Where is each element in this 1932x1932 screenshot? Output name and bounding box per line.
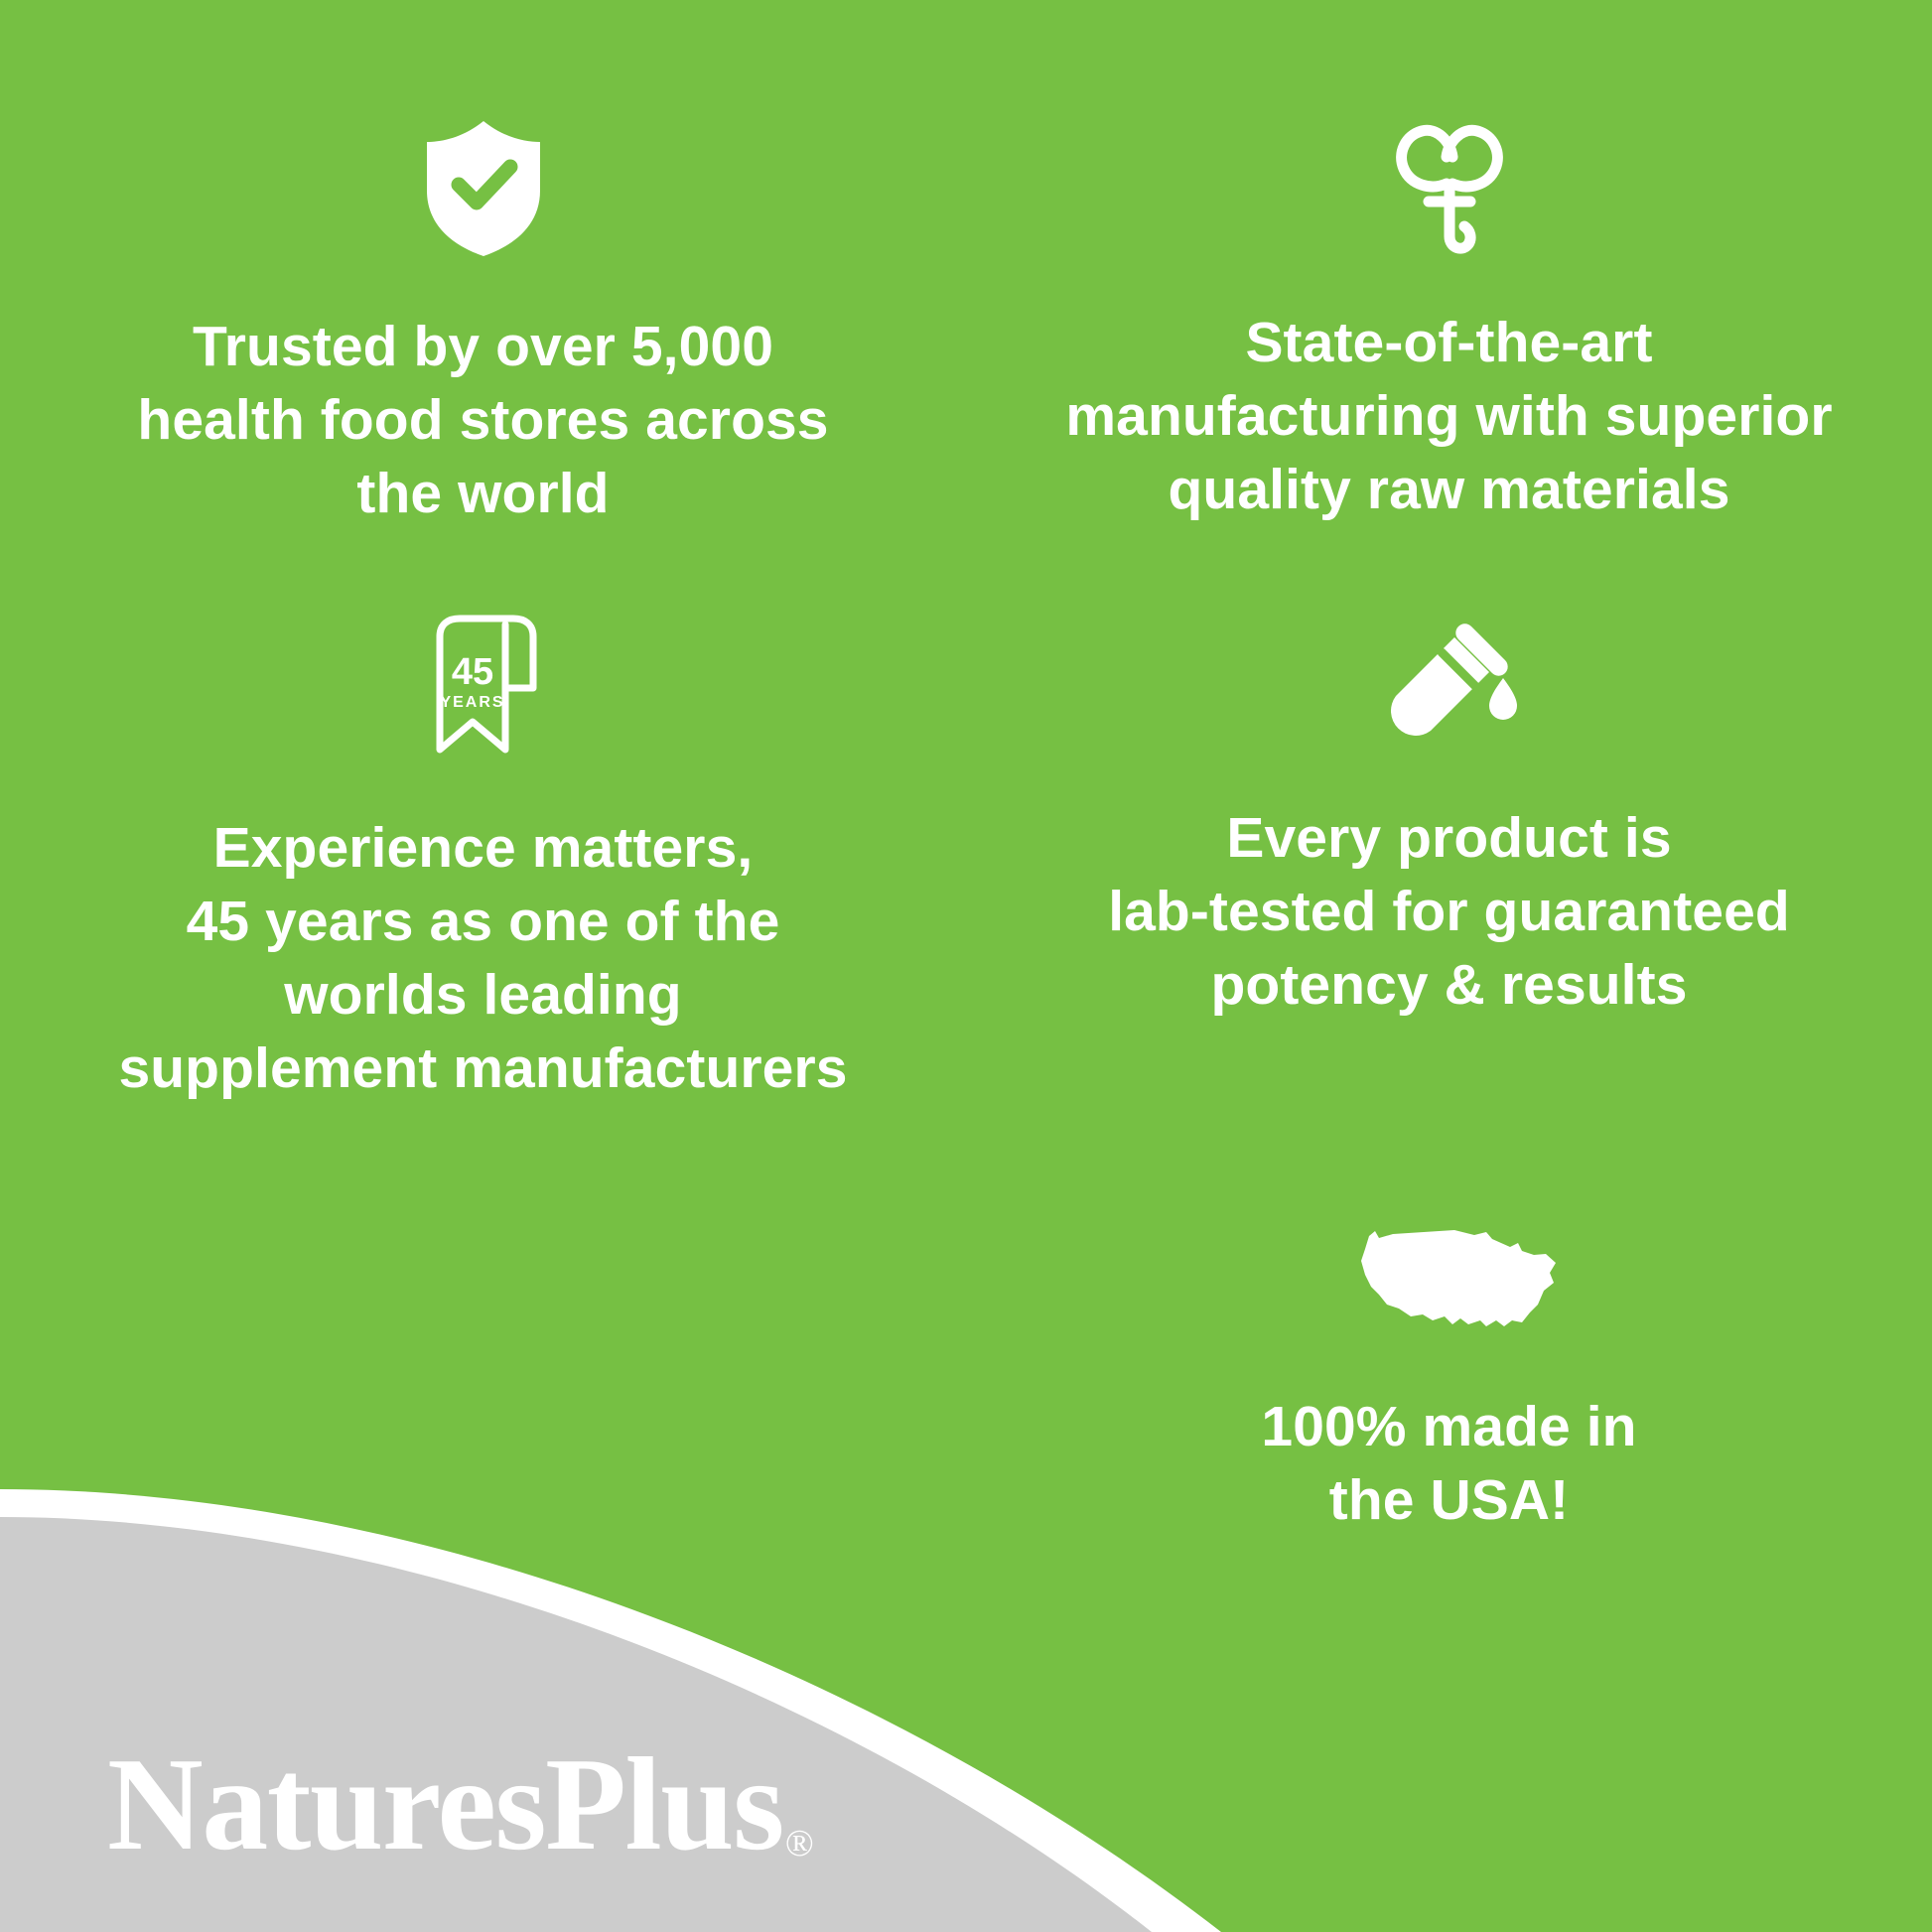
feature-state-of-the-art: State-of-the-art manufacturing with supe… [966, 0, 1932, 611]
feature-lab-tested: Every product is lab-tested for guarante… [966, 611, 1932, 1221]
shield-check-icon [423, 119, 544, 258]
brand-logo: NaturesPlus ® [107, 1737, 814, 1870]
feature-caption: Experience matters, 45 years as one of t… [118, 811, 847, 1105]
feature-grid: Trusted by over 5,000 health food stores… [0, 0, 1932, 1932]
feature-experience-45-years: 45 YEARS Experience matters, 45 years as… [0, 611, 966, 1221]
feature-caption: Every product is lab-tested for guarante… [1108, 801, 1790, 1022]
test-tube-droplet-icon [1380, 619, 1519, 750]
feature-trusted-stores: Trusted by over 5,000 health food stores… [0, 0, 966, 611]
feature-caption: State-of-the-art manufacturing with supe… [1065, 306, 1832, 526]
registered-trademark-symbol: ® [783, 1825, 814, 1870]
usa-map-icon [1335, 1221, 1564, 1340]
ribbon-number: 45 [451, 651, 492, 693]
feature-caption: 100% made in the USA! [1261, 1390, 1636, 1537]
ribbon-unit: YEARS [440, 694, 504, 711]
sprout-leaf-icon [1385, 121, 1514, 260]
anniversary-ribbon-icon: 45 YEARS [418, 611, 549, 758]
feature-made-in-usa: 100% made in the USA! [966, 1221, 1932, 1932]
feature-caption: Trusted by over 5,000 health food stores… [137, 310, 828, 530]
promo-poster: Trusted by over 5,000 health food stores… [0, 0, 1932, 1932]
brand-wordmark: NaturesPlus [107, 1737, 783, 1870]
